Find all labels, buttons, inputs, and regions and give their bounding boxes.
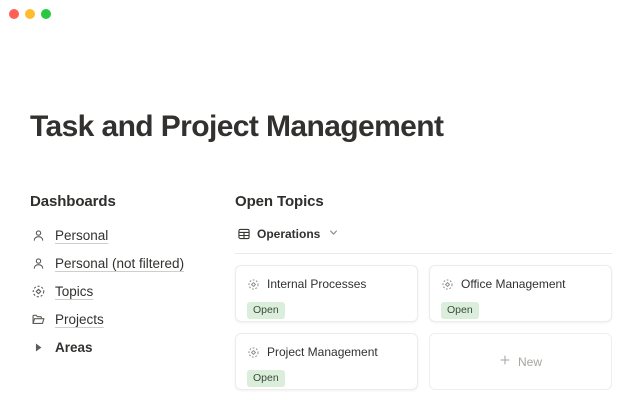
card-title: Office Management [461, 277, 566, 291]
topic-card[interactable]: Office Management Open [429, 265, 612, 322]
card-header: Office Management [441, 277, 600, 291]
status-badge: Open [247, 302, 285, 319]
card-header: Project Management [247, 345, 406, 359]
window-titlebar [0, 0, 640, 28]
page-content: Task and Project Management Dashboards P… [0, 110, 640, 390]
open-topics-section: Open Topics Operations [235, 193, 610, 390]
plus-icon [499, 353, 511, 371]
card-title: Project Management [267, 345, 378, 359]
close-window-button[interactable] [9, 9, 19, 19]
open-topics-heading: Open Topics [235, 193, 610, 210]
card-title: Internal Processes [267, 277, 366, 291]
topic-card[interactable]: Internal Processes Open [235, 265, 418, 322]
traffic-light-group [9, 9, 51, 19]
sidebar-item-personal-not-filtered[interactable]: Personal (not filtered) [30, 251, 235, 275]
tabs-divider [235, 253, 612, 254]
sidebar-item-topics[interactable]: Topics [30, 279, 235, 303]
new-topic-button[interactable]: New [429, 333, 612, 390]
topic-card[interactable]: Project Management Open [235, 333, 418, 390]
person-icon [30, 255, 46, 271]
view-tabs-row: Operations [235, 223, 610, 245]
dashboards-heading: Dashboards [30, 193, 235, 210]
content-columns: Dashboards Personal [30, 193, 610, 390]
topic-target-icon [247, 346, 260, 359]
topic-target-icon [30, 283, 46, 299]
triangle-collapsed-icon [30, 339, 46, 355]
tab-operations[interactable]: Operations [235, 225, 341, 243]
dashboards-section: Dashboards Personal [30, 193, 235, 363]
minimize-window-button[interactable] [25, 9, 35, 19]
tab-label: Operations [257, 227, 320, 241]
sidebar-item-personal[interactable]: Personal [30, 223, 235, 247]
sidebar-item-label: Projects [55, 312, 104, 327]
maximize-window-button[interactable] [41, 9, 51, 19]
new-topic-label: New [518, 355, 542, 369]
status-badge: Open [441, 302, 479, 319]
topic-cards-grid: Internal Processes Open Office Managemen… [235, 265, 610, 390]
sidebar-item-label: Areas [55, 340, 93, 355]
table-grid-icon [237, 227, 251, 241]
topic-target-icon [247, 278, 260, 291]
folder-icon [30, 311, 46, 327]
status-badge: Open [247, 370, 285, 387]
person-icon [30, 227, 46, 243]
card-header: Internal Processes [247, 277, 406, 291]
sidebar-item-label: Personal [55, 228, 108, 243]
dashboards-list: Personal Personal (not filtered) [30, 223, 235, 359]
sidebar-item-projects[interactable]: Projects [30, 307, 235, 331]
sidebar-item-label: Topics [55, 284, 93, 299]
sidebar-item-label: Personal (not filtered) [55, 256, 184, 271]
sidebar-item-areas[interactable]: Areas [30, 335, 235, 359]
page-title: Task and Project Management [30, 110, 610, 143]
topic-target-icon [441, 278, 454, 291]
chevron-down-icon[interactable] [328, 225, 339, 243]
